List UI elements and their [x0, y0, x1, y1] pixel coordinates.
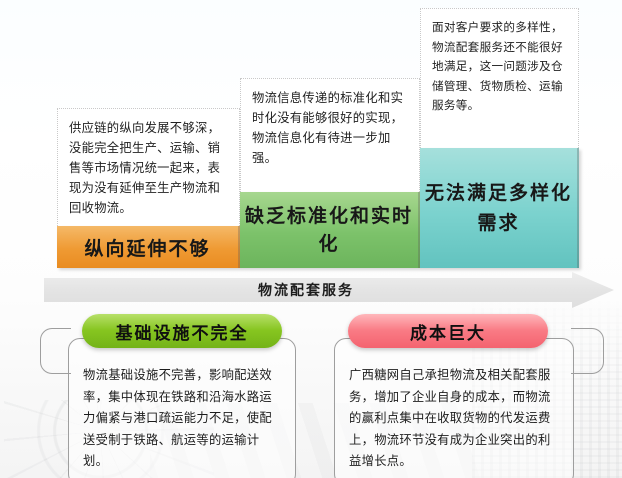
panel-huge-cost-title[interactable]: 成本巨大 — [348, 314, 548, 348]
panel-infrastructure-title[interactable]: 基础设施不完全 — [82, 314, 282, 348]
column-vertical-extension-heading[interactable]: 纵向延伸不够 — [57, 226, 240, 268]
top-columns-group: 供应链的纵向发展不够深，没能完全把生产、运输、销售等市场情况统一起来，表现为没有… — [0, 0, 622, 268]
flow-arrow-label: 物流配套服务 — [44, 272, 614, 308]
column-vertical-extension-note: 供应链的纵向发展不够深，没能完全把生产、运输、销售等市场情况统一起来，表现为没有… — [57, 108, 240, 226]
column-diverse-demand-heading[interactable]: 无法满足多样化需求 — [420, 148, 579, 268]
column-diverse-demand[interactable]: 面对客户要求的多样性，物流配套服务还不能很好地满足，这一问题涉及仓储管理、货物质… — [420, 8, 579, 268]
column-standardization-heading[interactable]: 缺乏标准化和实时化 — [240, 192, 420, 268]
diagram-canvas: 供应链的纵向发展不够深，没能完全把生产、运输、销售等市场情况统一起来，表现为没有… — [0, 0, 622, 478]
flow-arrow-banner: 物流配套服务 — [44, 272, 614, 308]
column-standardization-note: 物流信息传递的标准化和实时化没有能够很好的实现，物流信息化有待进一步加强。 — [240, 78, 420, 192]
panel-huge-cost-connector — [571, 328, 604, 374]
panel-infrastructure[interactable]: 物流基础设施不完善，影响配送效率，集中体现在铁路和沿海水路运力偏紧与港口疏运能力… — [68, 314, 296, 466]
panel-huge-cost[interactable]: 广西糖网自己承担物流及相关配套服务，增加了企业自身的成本，而物流的赢利点集中在收… — [334, 314, 574, 466]
panel-huge-cost-body: 广西糖网自己承担物流及相关配套服务，增加了企业自身的成本，而物流的赢利点集中在收… — [334, 338, 574, 478]
panel-infrastructure-body: 物流基础设施不完善，影响配送效率，集中体现在铁路和沿海水路运力偏紧与港口疏运能力… — [68, 338, 296, 478]
column-vertical-extension[interactable]: 供应链的纵向发展不够深，没能完全把生产、运输、销售等市场情况统一起来，表现为没有… — [57, 108, 240, 268]
panel-infrastructure-connector — [40, 328, 71, 374]
column-standardization[interactable]: 物流信息传递的标准化和实时化没有能够很好的实现，物流信息化有待进一步加强。 缺乏… — [240, 78, 420, 268]
column-diverse-demand-note: 面对客户要求的多样性，物流配套服务还不能很好地满足，这一问题涉及仓储管理、货物质… — [420, 8, 579, 148]
